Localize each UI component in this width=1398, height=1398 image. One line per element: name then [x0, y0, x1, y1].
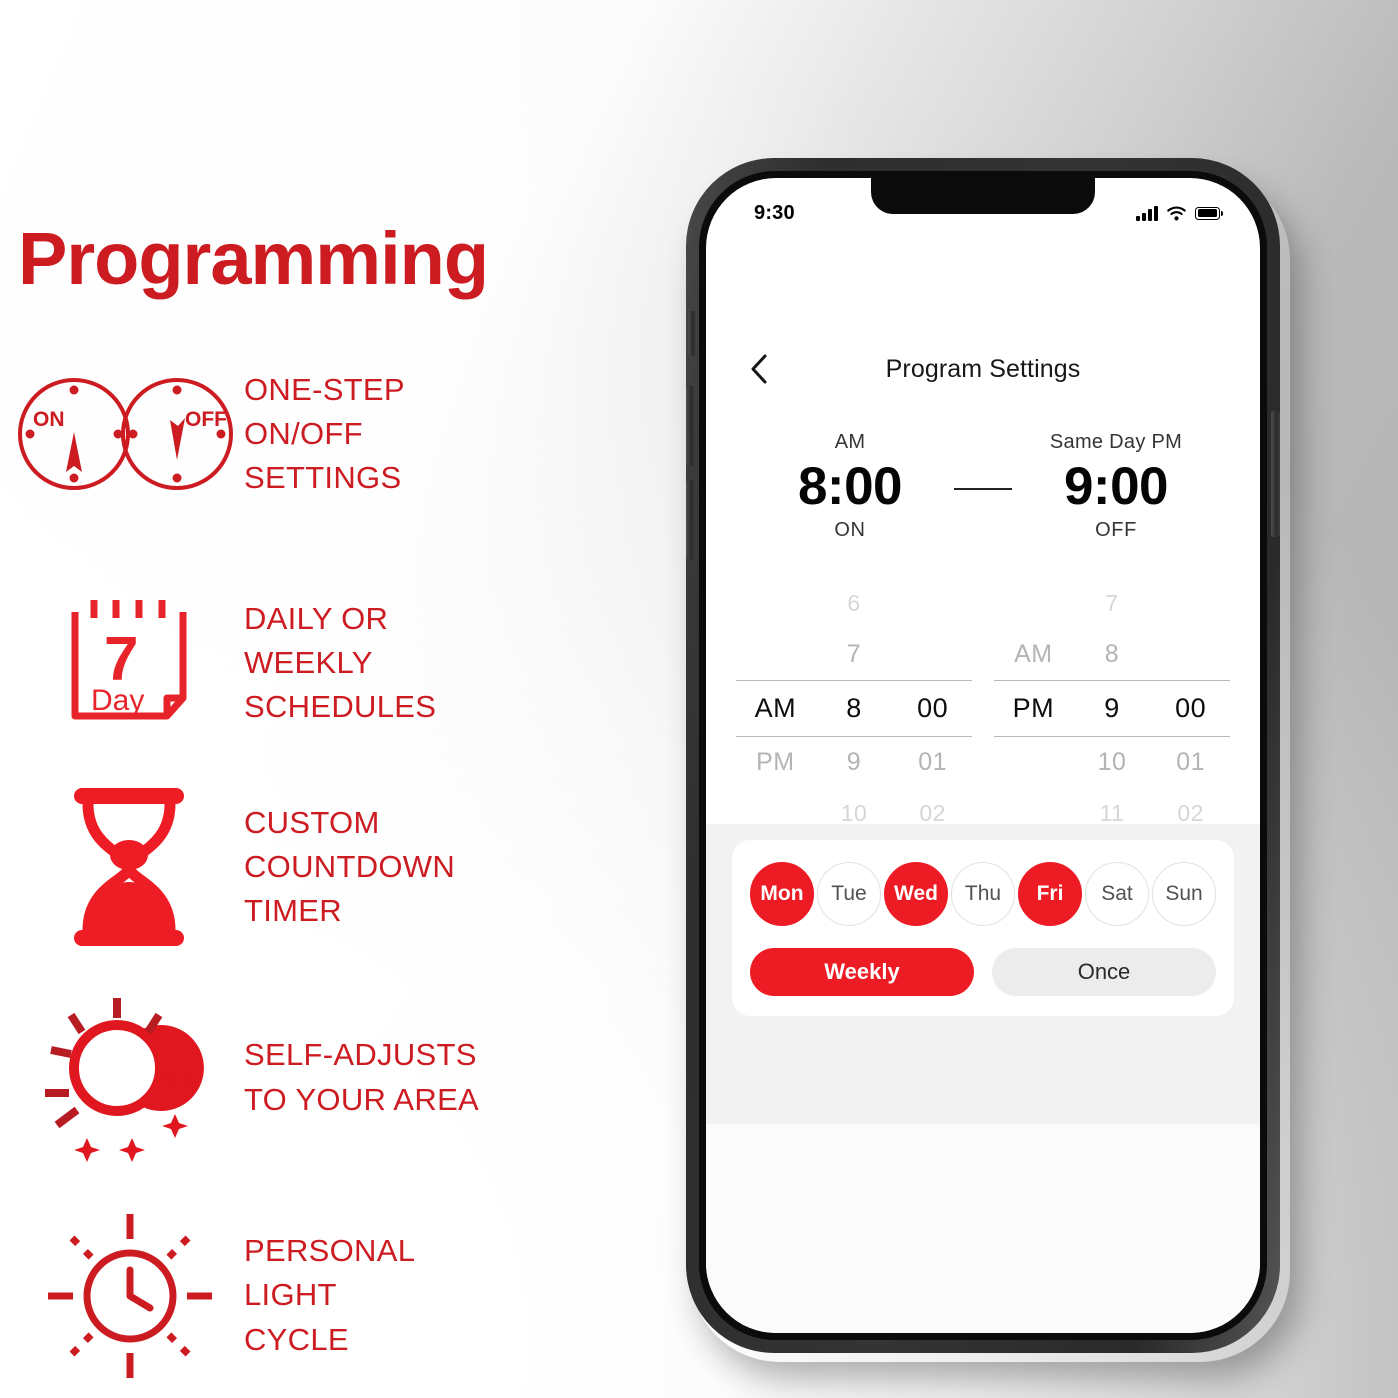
calendar-day-word: Day [91, 684, 144, 717]
day-chip-mon[interactable]: Mon [750, 862, 814, 926]
picker-row[interactable]: 7 [994, 578, 1230, 629]
day-chip-sat[interactable]: Sat [1085, 862, 1149, 926]
status-bar-time: 9:30 [754, 202, 795, 225]
on-time-picker[interactable]: 6 7 AM 8 00 [736, 578, 972, 839]
day-chip-wed[interactable]: Wed [884, 862, 948, 926]
cellular-signal-icon [1136, 206, 1158, 221]
feature-self-adjusts: SELF-ADJUSTS TO YOUR AREA [14, 990, 479, 1165]
silent-switch[interactable] [688, 311, 696, 356]
nav-bar: Program Settings [706, 343, 1260, 395]
picker-hour-cell[interactable]: 9 [1073, 693, 1152, 724]
volume-up-button[interactable] [686, 386, 695, 466]
page-header-title: Program Settings [706, 355, 1260, 384]
feature-daily-weekly: 7 Day DAILY OR WEEKLY SCHEDULES [14, 588, 436, 738]
feature-personal-light-cycle: PERSONAL LIGHT CYCLE [14, 1208, 415, 1383]
volume-down-button[interactable] [686, 480, 695, 560]
chevron-left-icon [749, 353, 769, 385]
feature-label: PERSONAL LIGHT CYCLE [244, 1229, 415, 1361]
off-time-summary[interactable]: Same Day PM 9:00 OFF [1018, 431, 1214, 542]
feature-one-step-onoff: ON OFF ONE-STEP ON/OFF SETTINGS [14, 368, 405, 500]
repeat-mode-selector: Weekly Once [750, 948, 1216, 996]
picker-hour-cell[interactable]: 9 [815, 748, 894, 777]
picker-hour-cell[interactable]: 6 [815, 590, 894, 617]
picker-meridiem-cell[interactable]: AM [994, 640, 1073, 669]
wifi-icon [1167, 206, 1186, 221]
calendar-7-day-icon: 7 Day [14, 588, 244, 738]
picker-minute-cell[interactable]: 01 [893, 748, 972, 777]
feature-label: ONE-STEP ON/OFF SETTINGS [244, 368, 405, 500]
picker-row[interactable]: 6 [736, 578, 972, 629]
picker-row[interactable]: 7 [736, 629, 972, 680]
picker-minute-cell[interactable]: 00 [1151, 693, 1230, 724]
picker-row-selected[interactable]: PM 9 00 [994, 680, 1230, 737]
picker-hour-cell[interactable]: 7 [1073, 590, 1152, 617]
phone-notch [871, 178, 1095, 214]
off-time-meridiem: Same Day PM [1018, 431, 1214, 454]
feature-label: SELF-ADJUSTS TO YOUR AREA [244, 1033, 479, 1121]
repeat-mode-weekly[interactable]: Weekly [750, 948, 974, 996]
picker-minute-cell[interactable]: 02 [893, 800, 972, 827]
picker-row[interactable]: 11 02 [994, 788, 1230, 839]
picker-hour-cell[interactable]: 8 [1073, 640, 1152, 669]
power-button[interactable] [1271, 411, 1280, 537]
picker-row[interactable]: 10 02 [736, 788, 972, 839]
picker-row[interactable]: 10 01 [994, 737, 1230, 788]
picker-hour-cell[interactable]: 8 [815, 693, 894, 724]
picker-minute-cell[interactable]: 00 [893, 693, 972, 724]
repeat-mode-once[interactable]: Once [992, 948, 1216, 996]
off-time-state: OFF [1018, 519, 1214, 542]
picker-hour-cell[interactable]: 10 [1073, 748, 1152, 777]
hourglass-icon [14, 782, 244, 952]
on-time-meridiem: AM [752, 431, 948, 454]
on-time-value: 8:00 [752, 458, 948, 515]
off-time-value: 9:00 [1018, 458, 1214, 515]
picker-row[interactable]: PM 9 01 [736, 737, 972, 788]
phone-bezel: 9:30 [699, 171, 1267, 1340]
phone-frame: 9:30 [686, 158, 1280, 1353]
battery-full-icon [1195, 207, 1220, 220]
phone-screen: 9:30 [706, 178, 1260, 1333]
picker-minute-cell[interactable]: 02 [1151, 800, 1230, 827]
on-time-summary[interactable]: AM 8:00 ON [752, 431, 948, 542]
picker-row[interactable]: AM 8 [994, 629, 1230, 680]
picker-hour-cell[interactable]: 10 [815, 800, 894, 827]
picker-meridiem-cell[interactable]: PM [736, 748, 815, 777]
feature-label: DAILY OR WEEKLY SCHEDULES [244, 597, 436, 729]
picker-minute-cell[interactable]: 01 [1151, 748, 1230, 777]
time-range-separator [954, 488, 1012, 490]
page-title: Programming [18, 222, 488, 296]
picker-meridiem-cell[interactable]: PM [994, 693, 1073, 724]
back-button[interactable] [738, 348, 780, 390]
clock-label-off: OFF [185, 408, 227, 431]
off-time-picker[interactable]: 7 AM 8 PM 9 00 [994, 578, 1230, 839]
lower-section-background [706, 1124, 1260, 1333]
feature-label: CUSTOM COUNTDOWN TIMER [244, 801, 455, 933]
day-chip-thu[interactable]: Thu [951, 862, 1015, 926]
picker-hour-cell[interactable]: 7 [815, 640, 894, 669]
picker-meridiem-cell[interactable]: AM [736, 693, 815, 724]
schedule-card: Mon Tue Wed Thu Fri Sat Sun Weekly Once [732, 840, 1234, 1016]
day-selector: Mon Tue Wed Thu Fri Sat Sun [750, 862, 1216, 926]
day-chip-fri[interactable]: Fri [1018, 862, 1082, 926]
on-off-clocks-icon: ON OFF [14, 372, 244, 497]
status-bar-icons [1136, 206, 1220, 221]
on-time-state: ON [752, 519, 948, 542]
time-pickers: 6 7 AM 8 00 [706, 578, 1260, 839]
day-chip-sun[interactable]: Sun [1152, 862, 1216, 926]
phone-mockup: 9:30 [676, 150, 1296, 1362]
clock-label-on: ON [33, 408, 65, 431]
promo-panel: Programming ON OFF [0, 0, 660, 1398]
sun-moon-stars-icon [14, 990, 244, 1165]
feature-countdown-timer: CUSTOM COUNTDOWN TIMER [14, 782, 455, 952]
time-summary: AM 8:00 ON Same Day PM 9:00 OFF [706, 431, 1260, 542]
sun-clock-icon [14, 1208, 244, 1383]
day-chip-tue[interactable]: Tue [817, 862, 881, 926]
picker-row-selected[interactable]: AM 8 00 [736, 680, 972, 737]
picker-hour-cell[interactable]: 11 [1073, 800, 1152, 827]
